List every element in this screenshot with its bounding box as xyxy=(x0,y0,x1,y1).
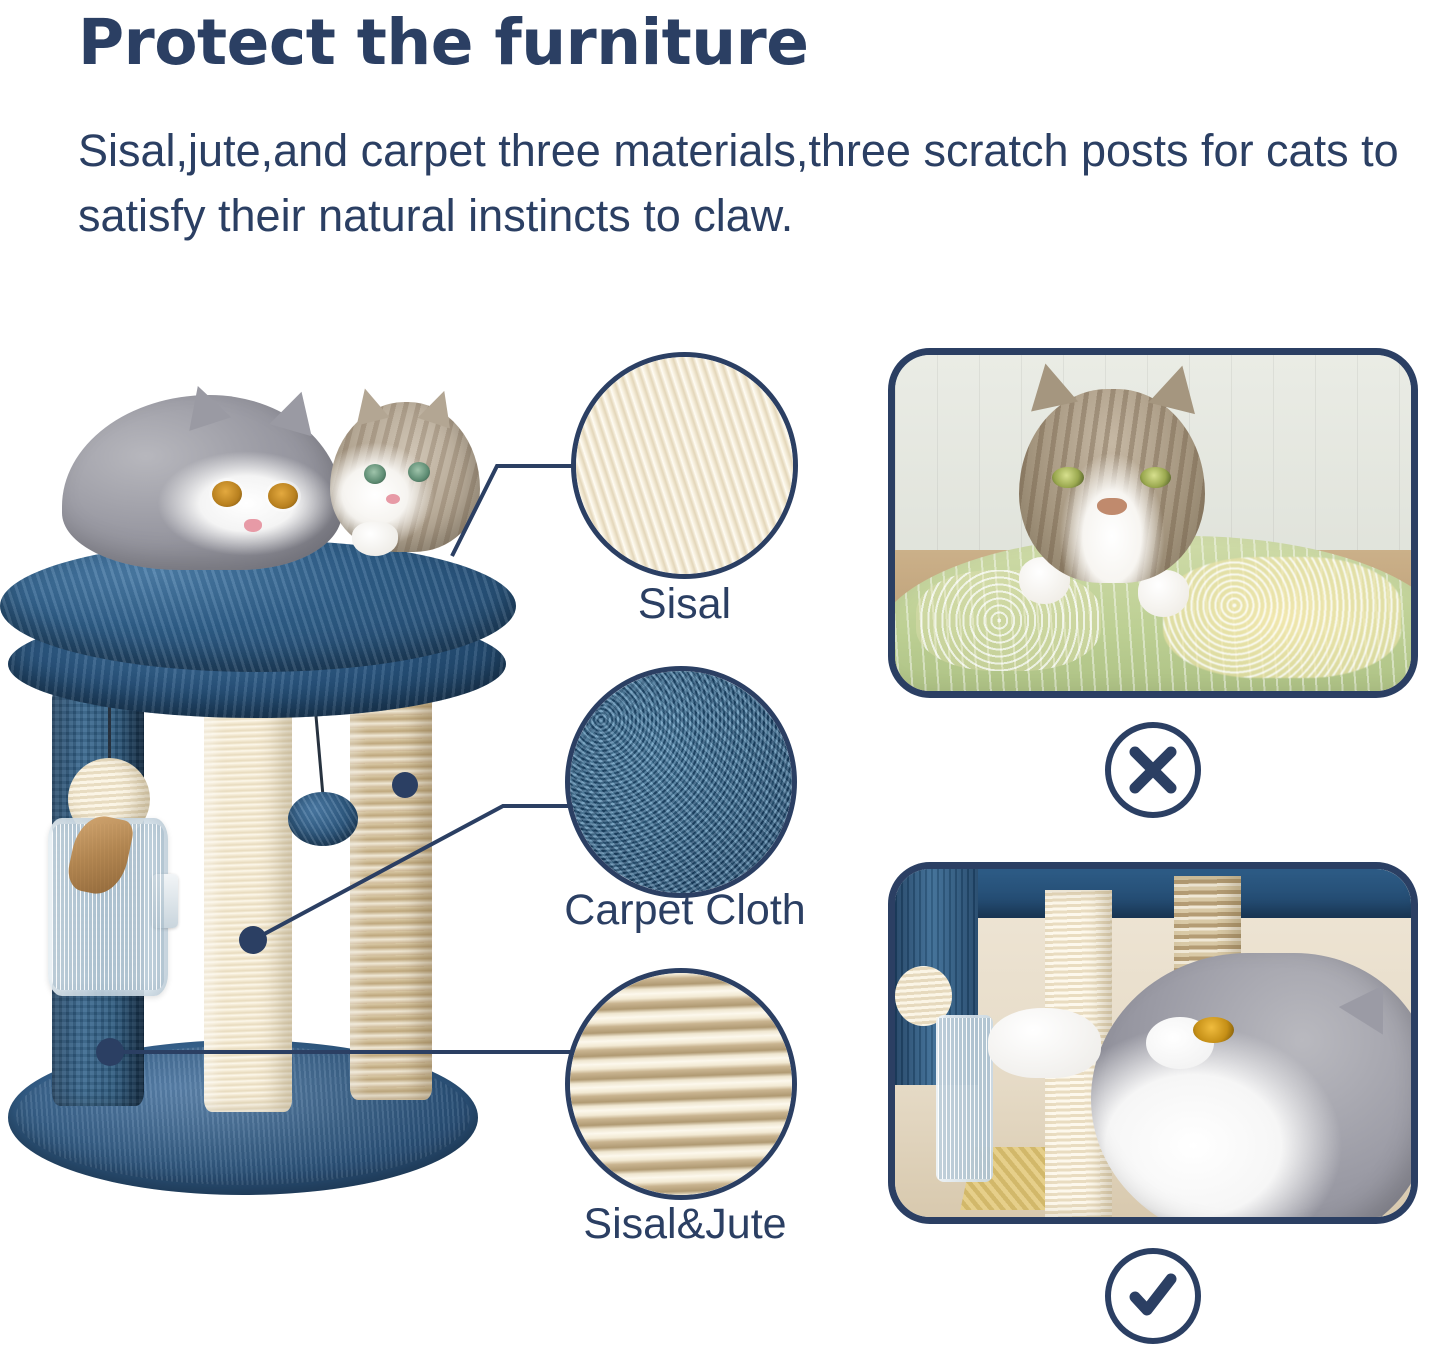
kitten-eye-right xyxy=(408,462,430,482)
product-post-jute xyxy=(350,680,432,1100)
carpet-cloth-texture-swatch xyxy=(565,666,797,898)
material-label-sisal-jute: Sisal&Jute xyxy=(520,1200,850,1249)
kitten-ear-left xyxy=(348,384,389,425)
scratching-cat-paw xyxy=(988,1008,1102,1078)
material-label-carpet-cloth: Carpet Cloth xyxy=(500,886,870,935)
sofa-shredded-area-left xyxy=(916,570,1102,671)
cross-glyph xyxy=(1126,743,1180,797)
bad-photo-scene xyxy=(895,355,1411,691)
good-photo-scene xyxy=(895,869,1411,1217)
cat-british-shorthair xyxy=(62,395,342,570)
kitten-ear-right xyxy=(418,386,461,429)
cat-clawing-sofa-photo xyxy=(888,348,1418,698)
kitten-paw xyxy=(352,522,398,556)
cat-eye-right xyxy=(268,483,298,509)
clawing-cat-nose xyxy=(1097,498,1127,516)
check-glyph xyxy=(1124,1267,1182,1325)
scratch-tree-groomer xyxy=(936,1015,993,1182)
sisal-jute-texture-swatch xyxy=(565,968,797,1200)
sisal-texture-swatch xyxy=(571,352,798,579)
scratching-cat-eye xyxy=(1193,1017,1234,1043)
carpet-cloth-texture-fill xyxy=(570,671,792,893)
product-post-sisal xyxy=(204,680,292,1112)
cat-ear-left xyxy=(177,379,231,431)
cat-nose xyxy=(244,519,262,532)
groomer-clip xyxy=(152,874,178,928)
infographic-page: Protect the furniture Sisal,jute,and car… xyxy=(0,0,1441,1345)
material-label-sisal: Sisal xyxy=(571,580,798,629)
scratching-grey-cat xyxy=(1091,953,1418,1224)
sisal-texture-fill xyxy=(576,357,793,574)
cat-ear-right xyxy=(269,386,322,437)
clawing-tabby-cat xyxy=(1019,389,1205,584)
pompom-string xyxy=(314,708,325,804)
product-photo xyxy=(0,340,560,1270)
clawing-cat-eye-right xyxy=(1140,467,1172,488)
check-icon xyxy=(1105,1248,1201,1344)
cat-tabby-kitten xyxy=(330,402,480,552)
sofa-shredded-area-right xyxy=(1163,557,1400,678)
clawing-cat-ear-left xyxy=(1022,359,1078,412)
cat-scratching-post-photo xyxy=(888,862,1418,1224)
kitten-nose xyxy=(386,494,400,504)
pompom-toy xyxy=(288,792,358,846)
page-title: Protect the furniture xyxy=(78,6,808,79)
page-subtitle: Sisal,jute,and carpet three materials,th… xyxy=(78,118,1408,249)
kitten-eye-left xyxy=(364,464,386,484)
cat-eye-left xyxy=(212,481,242,507)
cross-icon xyxy=(1105,722,1201,818)
sisal-jute-texture-fill xyxy=(570,973,792,1195)
clawing-cat-eye-left xyxy=(1052,467,1084,488)
